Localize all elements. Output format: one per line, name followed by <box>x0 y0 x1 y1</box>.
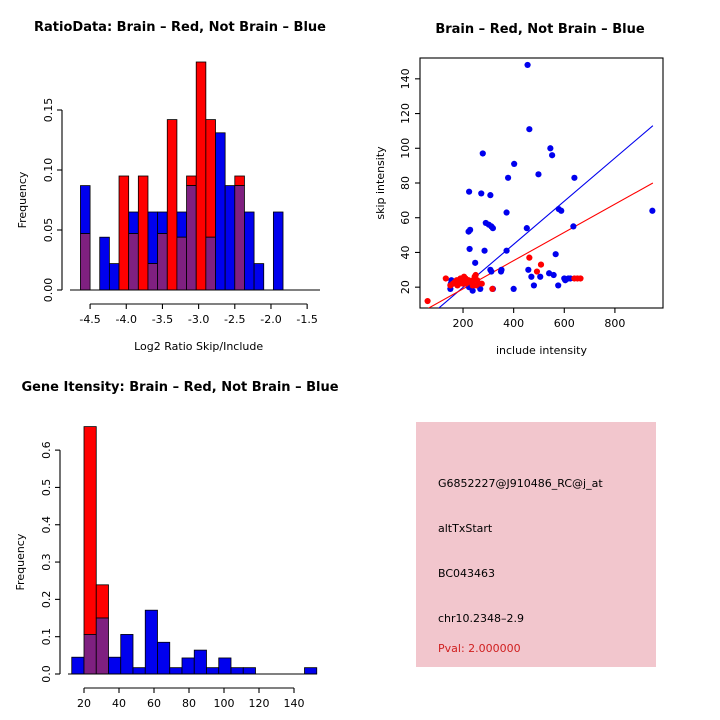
scatter-point <box>478 190 484 196</box>
scatter-point <box>531 282 537 288</box>
histogram-bar <box>158 642 170 674</box>
x-axis-tick-label: 120 <box>249 697 270 710</box>
panel-scatter: Brain – Red, Not Brain – Blue 2040608010… <box>360 0 720 360</box>
y-axis-tick-label: 0.5 <box>40 479 53 497</box>
y-axis-tick-label: 0.0 <box>40 665 53 683</box>
scatter-point <box>503 209 509 215</box>
scatter-point <box>549 152 555 158</box>
histogram-bar <box>244 212 254 290</box>
x-axis-tick-label: 800 <box>604 317 625 330</box>
histogram-bar <box>170 668 182 674</box>
scatter-point <box>443 275 449 281</box>
x-axis-tick-label: 140 <box>284 697 305 710</box>
scatter-point <box>524 225 530 231</box>
y-axis-tick-label: 0.2 <box>40 591 53 609</box>
scatter-point <box>649 208 655 214</box>
histogram-bar <box>138 176 148 290</box>
scatter-point <box>551 272 557 278</box>
scatter-point <box>490 225 496 231</box>
scatter-point <box>538 261 544 267</box>
scatter-point <box>503 248 509 254</box>
histogram-bar <box>194 650 206 674</box>
y-axis-tick-label: 40 <box>399 245 412 259</box>
x-axis-tick-label: 80 <box>182 697 196 710</box>
histogram-bar-overlap <box>129 234 139 290</box>
x-axis-tick-label: -3.0 <box>188 313 209 326</box>
histogram-bar <box>215 133 225 290</box>
x-axis-label: Log2 Ratio Skip/Include <box>134 340 263 353</box>
histogram-bar <box>84 427 96 635</box>
scatter-point <box>454 282 460 288</box>
x-axis-tick-label: 20 <box>77 697 91 710</box>
histogram-bars <box>80 62 283 290</box>
x-axis-tick-label: -4.0 <box>116 313 137 326</box>
histogram-bar-overlap <box>206 237 216 290</box>
histogram-bar <box>196 62 206 290</box>
x-axis-tick-label: 600 <box>554 317 575 330</box>
scatter-point <box>473 272 479 278</box>
scatter-point <box>487 192 493 198</box>
gene-histogram-canvas: 0.00.10.20.30.40.50.6Frequency2040608010… <box>0 386 360 716</box>
histogram-bar <box>219 658 231 674</box>
histogram-bar <box>100 237 110 290</box>
scatter-point <box>466 229 472 235</box>
x-axis-tick-label: 40 <box>112 697 126 710</box>
y-axis-tick-label: 0.3 <box>40 553 53 571</box>
histogram-bar <box>231 668 243 674</box>
x-axis-tick-label: -2.0 <box>260 313 281 326</box>
y-axis-tick-label: 100 <box>399 138 412 159</box>
histogram-bar-overlap <box>96 618 108 674</box>
scatter-point <box>467 246 473 252</box>
scatter-point <box>528 274 534 280</box>
plot-page: RatioData: Brain – Red, Not Brain – Blue… <box>0 0 720 720</box>
scatter-point <box>571 175 577 181</box>
y-axis-tick-label: 0.10 <box>42 158 55 183</box>
y-axis-tick-label: 0.6 <box>40 441 53 459</box>
scatter-point <box>480 150 486 156</box>
y-axis-tick-label: 20 <box>399 280 412 294</box>
scatter-point <box>479 281 485 287</box>
histogram-bar <box>182 658 194 674</box>
x-axis-tick-label: 400 <box>503 317 524 330</box>
histogram-bar-overlap <box>84 634 96 674</box>
histogram-bar <box>109 264 119 290</box>
y-axis-tick-label: 0.4 <box>40 516 53 534</box>
histogram-bar <box>133 668 145 674</box>
scatter-point <box>526 255 532 261</box>
scatter-point <box>577 275 583 281</box>
histogram-bar <box>243 668 255 674</box>
scatter-point <box>537 274 543 280</box>
y-axis-tick-label: 80 <box>399 176 412 190</box>
x-axis-tick-label: -2.5 <box>224 313 245 326</box>
scatter-point <box>570 223 576 229</box>
histogram-bar-overlap <box>235 186 245 290</box>
histogram-bar <box>273 212 283 290</box>
histogram-bar <box>121 634 133 674</box>
scatter-point <box>463 281 469 287</box>
histogram-bar <box>72 657 84 674</box>
histogram-bar <box>80 186 90 234</box>
scatter-point <box>489 286 495 292</box>
scatter-point <box>555 282 561 288</box>
histogram-bar <box>96 585 108 618</box>
ratio-histogram-canvas: 0.000.050.100.15Frequency-4.5-4.0-3.5-3.… <box>0 26 360 356</box>
scatter-point <box>472 260 478 266</box>
y-axis-label: Frequency <box>16 171 29 228</box>
histogram-bar <box>187 176 197 186</box>
accession-text: BC043463 <box>438 567 495 580</box>
scatter-point <box>535 171 541 177</box>
y-axis-tick-label: 0.00 <box>42 278 55 303</box>
scatter-point <box>534 268 540 274</box>
x-axis-tick-label: -1.5 <box>296 313 317 326</box>
scatter-point <box>553 251 559 257</box>
histogram-bar <box>206 120 216 238</box>
y-axis-tick-label: 140 <box>399 68 412 89</box>
histogram-bar <box>225 186 235 290</box>
y-axis-label: skip intensity <box>374 146 387 220</box>
regression-line <box>423 183 653 311</box>
y-axis-tick-label: 0.1 <box>40 628 53 646</box>
histogram-bar <box>235 176 245 186</box>
histogram-bar <box>207 668 219 674</box>
histogram-bar <box>109 657 121 674</box>
y-axis-tick-label: 0.05 <box>42 218 55 243</box>
histogram-bar <box>158 212 168 234</box>
histogram-bar-overlap <box>80 234 90 290</box>
x-axis-tick-label: 100 <box>214 697 235 710</box>
plot-frame <box>420 58 663 308</box>
y-axis-tick-label: 0.15 <box>42 98 55 123</box>
scatter-point <box>505 175 511 181</box>
scatter-point <box>524 62 530 68</box>
panel-gene-histogram: Gene Itensity: Brain – Red, Not Brain – … <box>0 360 360 720</box>
scatter-canvas: 20406080100120140skip intensity200400600… <box>360 26 720 356</box>
probe-id-text: G6852227@J910486_RC@j_at <box>438 477 603 490</box>
scatter-point <box>526 126 532 132</box>
scatter-point <box>488 268 494 274</box>
event-type-text: altTxStart <box>438 522 492 535</box>
histogram-bar <box>305 668 317 674</box>
histogram-bar-overlap <box>187 186 197 290</box>
histogram-bar <box>145 610 157 674</box>
scatter-point <box>558 208 564 214</box>
locus-text: chr10.2348–2.9 <box>438 612 524 625</box>
scatter-point <box>547 145 553 151</box>
plot-area <box>423 62 656 322</box>
scatter-point <box>511 286 517 292</box>
scatter-point <box>466 189 472 195</box>
histogram-bar-overlap <box>158 234 168 290</box>
pval-text: Pval: 2.000000 <box>438 642 521 655</box>
scatter-point <box>511 161 517 167</box>
histogram-bar <box>119 176 129 290</box>
histogram-bar <box>177 212 187 237</box>
x-axis-tick-label: 60 <box>147 697 161 710</box>
histogram-bar <box>167 120 177 290</box>
histogram-bar <box>148 212 158 264</box>
gene-info-box: G6852227@J910486_RC@j_at altTxStart BC04… <box>416 422 656 667</box>
y-axis-tick-label: 60 <box>399 211 412 225</box>
histogram-bar-overlap <box>177 237 187 290</box>
x-axis-tick-label: 200 <box>453 317 474 330</box>
scatter-point <box>498 268 504 274</box>
x-axis-tick-label: -3.5 <box>152 313 173 326</box>
x-axis-tick-label: -4.5 <box>79 313 100 326</box>
panel-ratio-histogram: RatioData: Brain – Red, Not Brain – Blue… <box>0 0 360 360</box>
scatter-point <box>424 298 430 304</box>
histogram-bars <box>72 427 317 674</box>
scatter-point <box>525 267 531 273</box>
histogram-bar-overlap <box>148 264 158 290</box>
panel-info: G6852227@J910486_RC@j_at altTxStart BC04… <box>360 360 720 720</box>
x-axis-label: include intensity <box>496 344 588 356</box>
histogram-bar <box>254 264 264 290</box>
histogram-bar <box>129 212 139 234</box>
y-axis-label: Frequency <box>14 533 27 590</box>
scatter-point <box>481 248 487 254</box>
y-axis-tick-label: 120 <box>399 103 412 124</box>
